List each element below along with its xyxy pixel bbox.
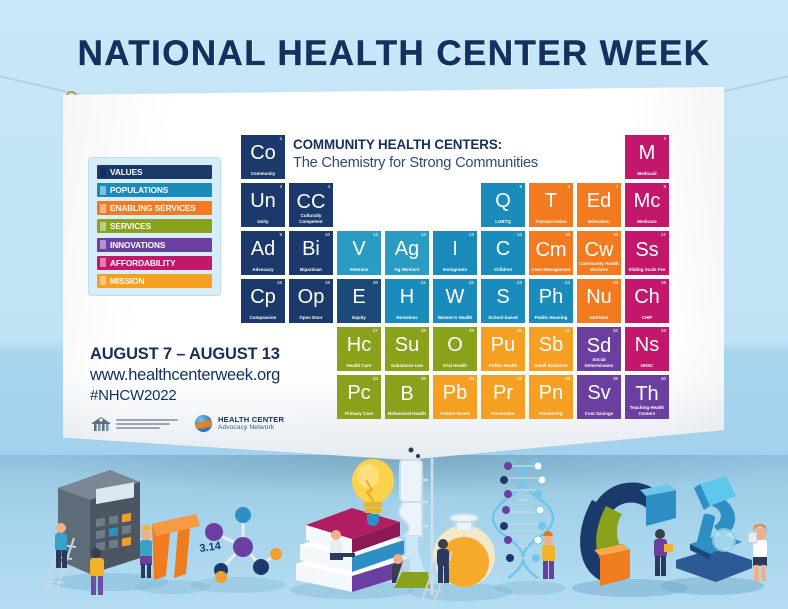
element-number: 21 bbox=[421, 280, 426, 285]
vinyl-banner: VALUESPOPULATIONSENABLING SERVICESSERVIC… bbox=[63, 87, 724, 460]
empty-cell bbox=[481, 135, 525, 179]
element-tile-w[interactable]: 22WWomen's Health bbox=[433, 279, 477, 323]
microscope-illustration bbox=[660, 476, 767, 595]
element-name: Bipartisan bbox=[291, 267, 331, 272]
element-symbol: Ss bbox=[625, 240, 669, 260]
legend-item-label: AFFORDABILITY bbox=[110, 258, 176, 268]
element-number: 15 bbox=[565, 232, 570, 237]
legend-item-populations: POPULATIONS bbox=[97, 183, 212, 197]
element-symbol: Ch bbox=[625, 287, 669, 307]
element-name: Immigrants bbox=[435, 267, 475, 272]
element-tile-hc[interactable]: 27HcHealth Care bbox=[337, 327, 381, 371]
element-symbol: E bbox=[337, 287, 381, 307]
element-tile-o[interactable]: 29OOral Health bbox=[433, 327, 477, 371]
element-name: Ag Workers bbox=[387, 267, 427, 272]
empty-cell bbox=[289, 135, 333, 179]
element-name: Medicare bbox=[627, 219, 667, 224]
element-tile-bi[interactable]: 10BiBipartisan bbox=[289, 231, 333, 275]
element-tile-t[interactable]: 6TTransportation bbox=[529, 183, 573, 227]
periodic-row: 3UnUnity4CCCulturally Competent5QLGBTQ6T… bbox=[241, 183, 696, 227]
element-tile-ph[interactable]: 24PhPublic Housing bbox=[529, 279, 573, 323]
element-symbol: M bbox=[625, 143, 669, 163]
element-number: 36 bbox=[469, 376, 474, 381]
element-tile-s[interactable]: 23SSchool-based bbox=[481, 279, 525, 323]
event-hashtag: #NHCW2022 bbox=[90, 387, 280, 404]
legend-color-chip bbox=[100, 240, 106, 249]
element-symbol: Su bbox=[385, 335, 429, 355]
element-number: 5 bbox=[519, 184, 522, 189]
legend-item-values: VALUES bbox=[97, 165, 212, 179]
element-symbol: Sb bbox=[529, 335, 573, 355]
element-number: 19 bbox=[325, 280, 330, 285]
legend-item-enabling-services: ENABLING SERVICES bbox=[97, 201, 212, 215]
element-number: 18 bbox=[277, 280, 282, 285]
element-number: 23 bbox=[517, 280, 522, 285]
empty-cell bbox=[289, 327, 333, 371]
element-name: Women's Health bbox=[435, 315, 475, 320]
category-legend: VALUESPOPULATIONSENABLING SERVICESSERVIC… bbox=[88, 157, 221, 296]
element-tile-sv[interactable]: 39SvCost Savings bbox=[577, 375, 621, 419]
logo-row: HEALTH CENTER Advocacy Network bbox=[90, 414, 284, 433]
element-tile-nu[interactable]: 25NuNutrition bbox=[577, 279, 621, 323]
person-calculator-a bbox=[55, 523, 67, 568]
element-symbol: Ad bbox=[241, 239, 285, 259]
empty-cell bbox=[337, 135, 381, 179]
element-tile-ag[interactable]: 12AgAg Workers bbox=[385, 231, 429, 275]
empty-cell bbox=[385, 183, 429, 227]
element-symbol: Sd bbox=[577, 336, 621, 356]
legend-color-chip bbox=[100, 204, 106, 213]
element-tile-pc[interactable]: 34PcPrimary Care bbox=[337, 375, 381, 419]
element-number: 39 bbox=[613, 376, 618, 381]
element-name: Compassion bbox=[243, 315, 283, 320]
element-number: 32 bbox=[613, 328, 618, 333]
element-name: Education bbox=[579, 219, 619, 224]
advocacy-logo-line1: HEALTH CENTER bbox=[218, 416, 284, 424]
empty-cell bbox=[337, 183, 381, 227]
element-name: Veterans bbox=[339, 267, 379, 272]
element-name: Equity bbox=[339, 315, 379, 320]
element-name: NHSC bbox=[627, 363, 667, 368]
element-tile-pr[interactable]: 37PrPrevention bbox=[481, 375, 525, 419]
element-name: Homeless bbox=[387, 315, 427, 320]
legend-item-label: VALUES bbox=[110, 167, 142, 177]
periodic-row: 27HcHealth Care28SuSubstance Use29OOral … bbox=[241, 327, 696, 371]
legend-color-chip bbox=[100, 186, 106, 195]
legend-color-chip bbox=[100, 276, 106, 285]
element-name: Case Management bbox=[531, 267, 571, 272]
element-number: 6 bbox=[567, 184, 570, 189]
element-symbol: S bbox=[481, 287, 525, 307]
element-name: Advocacy bbox=[243, 267, 283, 272]
element-symbol: Nu bbox=[577, 287, 621, 307]
svg-text:3.14: 3.14 bbox=[199, 540, 223, 555]
legend-item-label: POPULATIONS bbox=[110, 185, 168, 195]
element-number: 11 bbox=[373, 232, 378, 237]
element-symbol: W bbox=[433, 287, 477, 307]
element-tile-un[interactable]: 3UnUnity bbox=[241, 183, 285, 227]
nachc-wordmark bbox=[116, 419, 178, 429]
element-name: Transportation bbox=[531, 219, 571, 224]
element-number: 33 bbox=[661, 328, 666, 333]
periodic-row: 34PcPrimary Care35BBehavioral Health36Pb… bbox=[241, 375, 696, 419]
periodic-row: 18CpCompassion19OpOpen Door20EEquity21HH… bbox=[241, 279, 696, 323]
legend-item-label: SERVICES bbox=[110, 221, 151, 231]
element-number: 10 bbox=[325, 232, 330, 237]
element-number: 13 bbox=[469, 232, 474, 237]
element-name: Medicaid bbox=[627, 171, 667, 176]
element-tile-m[interactable]: 2MMedicaid bbox=[625, 135, 669, 179]
element-symbol: V bbox=[337, 239, 381, 259]
element-name: Public Housing bbox=[531, 315, 571, 320]
element-number: 24 bbox=[565, 280, 570, 285]
element-symbol: T bbox=[529, 191, 573, 211]
element-number: 1 bbox=[279, 136, 282, 141]
element-name: Small Business bbox=[531, 363, 571, 368]
nachc-logo bbox=[90, 415, 178, 433]
empty-cell bbox=[433, 183, 477, 227]
person-flask bbox=[437, 539, 449, 583]
legend-item-innovations: INNOVATIONS bbox=[97, 238, 212, 252]
empty-cell bbox=[529, 135, 573, 179]
legend-item-label: INNOVATIONS bbox=[110, 240, 165, 250]
legend-item-affordability: AFFORDABILITY bbox=[97, 256, 212, 270]
element-number: 9 bbox=[279, 232, 282, 237]
element-tile-mc[interactable]: 8McMedicare bbox=[625, 183, 669, 227]
element-tile-ch[interactable]: 26ChCHIP bbox=[625, 279, 669, 323]
element-name: Sliding Scale Fee bbox=[627, 267, 667, 272]
element-number: 31 bbox=[565, 328, 570, 333]
element-number: 3 bbox=[279, 184, 282, 189]
person-pi bbox=[140, 525, 152, 578]
element-symbol: Cp bbox=[241, 287, 285, 307]
legend-color-chip bbox=[100, 258, 106, 267]
element-symbol: Op bbox=[289, 287, 333, 307]
element-tile-ad[interactable]: 9AdAdvocacy bbox=[241, 231, 285, 275]
element-name: Nutrition bbox=[579, 315, 619, 320]
element-tile-cp[interactable]: 18CpCompassion bbox=[241, 279, 285, 323]
page-title: NATIONAL HEALTH CENTER WEEK bbox=[0, 34, 788, 74]
element-name: Community bbox=[243, 171, 283, 176]
element-name: Community Health Workers bbox=[579, 261, 619, 272]
person-magnet bbox=[654, 529, 673, 576]
element-symbol: Co bbox=[241, 143, 285, 163]
element-tile-ss[interactable]: 17SsSliding Scale Fee bbox=[625, 231, 669, 275]
element-number: 22 bbox=[469, 280, 474, 285]
element-symbol: I bbox=[433, 239, 477, 259]
element-symbol: O bbox=[433, 335, 477, 355]
legend-item-services: SERVICES bbox=[97, 219, 212, 233]
element-tile-op[interactable]: 19OpOpen Door bbox=[289, 279, 333, 323]
element-name: Open Door bbox=[291, 315, 331, 320]
element-symbol: B bbox=[385, 384, 429, 404]
element-number: 14 bbox=[517, 232, 522, 237]
empty-cell bbox=[577, 135, 621, 179]
legend-item-label: MISSION bbox=[110, 276, 144, 286]
element-symbol: Ns bbox=[625, 335, 669, 355]
element-number: 25 bbox=[613, 280, 618, 285]
nachc-house-icon bbox=[90, 415, 112, 433]
element-symbol: Bi bbox=[289, 239, 333, 259]
dna-helix-illustration bbox=[493, 458, 566, 595]
element-tile-pu[interactable]: 30PuPublic Health bbox=[481, 327, 525, 371]
element-tile-b[interactable]: 35BBehavioral Health bbox=[385, 375, 429, 419]
globe-icon bbox=[194, 414, 213, 433]
element-number: 7 bbox=[615, 184, 618, 189]
element-number: 38 bbox=[565, 376, 570, 381]
poster-canvas: NATIONAL HEALTH CENTER WEEK VALUESPOPULA… bbox=[0, 0, 788, 609]
element-symbol: Ag bbox=[385, 239, 429, 259]
periodic-table: 1CoCommunity2MMedicaid3UnUnity4CCCultura… bbox=[241, 135, 696, 423]
element-symbol: Cm bbox=[529, 240, 573, 260]
element-symbol: C bbox=[481, 239, 525, 259]
element-number: 29 bbox=[469, 328, 474, 333]
isometric-illustration-strip: 3.14 bbox=[0, 440, 788, 609]
element-name: School-based bbox=[483, 315, 523, 320]
advocacy-network-logo: HEALTH CENTER Advocacy Network bbox=[194, 414, 284, 433]
element-tile-v[interactable]: 11VVeterans bbox=[337, 231, 381, 275]
empty-cell bbox=[289, 375, 333, 419]
element-tile-su[interactable]: 28SuSubstance Use bbox=[385, 327, 429, 371]
element-name: Oral Health bbox=[435, 363, 475, 368]
person-dna bbox=[542, 531, 555, 579]
element-symbol: Cw bbox=[577, 240, 621, 260]
element-name: Public Health bbox=[483, 363, 523, 368]
empty-cell bbox=[433, 135, 477, 179]
element-number: 28 bbox=[421, 328, 426, 333]
element-tile-sb[interactable]: 31SbSmall Business bbox=[529, 327, 573, 371]
element-tile-pb[interactable]: 36PbPatient Board bbox=[433, 375, 477, 419]
element-symbol: Un bbox=[241, 191, 285, 211]
element-symbol: Mc bbox=[625, 191, 669, 211]
periodic-row: 9AdAdvocacy10BiBipartisan11VVeterans12Ag… bbox=[241, 231, 696, 275]
element-symbol: Pn bbox=[529, 383, 573, 403]
element-tile-ed[interactable]: 7EdEducation bbox=[577, 183, 621, 227]
element-name: Culturally Competent bbox=[291, 213, 331, 224]
element-tile-cw[interactable]: 16CwCommunity Health Workers bbox=[577, 231, 621, 275]
element-symbol: Ph bbox=[529, 287, 573, 307]
element-symbol: Pb bbox=[433, 383, 477, 403]
element-tile-sd[interactable]: 32SdSocial Determinants bbox=[577, 327, 621, 371]
element-name: Health Care bbox=[339, 363, 379, 368]
element-symbol: CC bbox=[289, 192, 333, 212]
element-name: Children bbox=[483, 267, 523, 272]
event-dates: AUGUST 7 – AUGUST 13 bbox=[90, 345, 280, 364]
element-tile-i[interactable]: 13IImmigrants bbox=[433, 231, 477, 275]
legend-color-chip bbox=[100, 168, 106, 177]
magnet-illustration bbox=[572, 482, 688, 597]
element-symbol: Pr bbox=[481, 383, 525, 403]
element-symbol: Q bbox=[481, 191, 525, 211]
element-number: 2 bbox=[663, 136, 666, 141]
element-number: 26 bbox=[661, 280, 666, 285]
element-name: Pioneering bbox=[531, 411, 571, 416]
element-name: Behavioral Health bbox=[387, 411, 427, 416]
empty-cell bbox=[385, 135, 429, 179]
element-name: LGBTQ bbox=[483, 219, 523, 224]
event-info: AUGUST 7 – AUGUST 13 www.healthcenterwee… bbox=[90, 345, 280, 404]
element-number: 17 bbox=[661, 232, 666, 237]
element-tile-cc[interactable]: 4CCCulturally Competent bbox=[289, 183, 333, 227]
element-number: 40 bbox=[661, 376, 666, 381]
event-url[interactable]: www.healthcenterweek.org bbox=[90, 366, 280, 385]
element-tile-co[interactable]: 1CoCommunity bbox=[241, 135, 285, 179]
element-name: Prevention bbox=[483, 411, 523, 416]
element-number: 30 bbox=[517, 328, 522, 333]
legend-color-chip bbox=[100, 222, 106, 231]
element-tile-e[interactable]: 20EEquity bbox=[337, 279, 381, 323]
element-tile-pn[interactable]: 38PnPioneering bbox=[529, 375, 573, 419]
element-name: Social Determinants bbox=[579, 357, 619, 368]
element-name: Teaching Health Centers bbox=[627, 405, 667, 416]
element-symbol: Th bbox=[625, 384, 669, 404]
element-number: 8 bbox=[663, 184, 666, 189]
element-name: Cost Savings bbox=[579, 411, 619, 416]
element-number: 20 bbox=[373, 280, 378, 285]
element-tile-c[interactable]: 14CChildren bbox=[481, 231, 525, 275]
element-name: Unity bbox=[243, 219, 283, 224]
element-name: CHIP bbox=[627, 315, 667, 320]
legend-item-label: ENABLING SERVICES bbox=[110, 203, 196, 213]
element-tile-cm[interactable]: 15CmCase Management bbox=[529, 231, 573, 275]
person-microscope bbox=[748, 524, 767, 581]
element-number: 4 bbox=[327, 184, 330, 189]
element-symbol: Ed bbox=[577, 191, 621, 211]
element-tile-th[interactable]: 40ThTeaching Health Centers bbox=[625, 375, 669, 419]
element-number: 35 bbox=[421, 376, 426, 381]
books-lightbulb-illustration bbox=[290, 459, 414, 599]
element-name: Primary Care bbox=[339, 411, 379, 416]
element-name: Substance Use bbox=[387, 363, 427, 368]
element-number: 16 bbox=[613, 232, 618, 237]
element-tile-h[interactable]: 21HHomeless bbox=[385, 279, 429, 323]
element-symbol: Pu bbox=[481, 335, 525, 355]
advocacy-logo-line2: Advocacy Network bbox=[218, 424, 284, 431]
element-number: 12 bbox=[421, 232, 426, 237]
element-number: 27 bbox=[373, 328, 378, 333]
element-tile-ns[interactable]: 33NsNHSC bbox=[625, 327, 669, 371]
legend-item-mission: MISSION bbox=[97, 274, 212, 288]
element-tile-q[interactable]: 5QLGBTQ bbox=[481, 183, 525, 227]
element-name: Patient Board bbox=[435, 411, 475, 416]
element-symbol: Hc bbox=[337, 335, 381, 355]
element-symbol: Sv bbox=[577, 383, 621, 403]
element-number: 37 bbox=[517, 376, 522, 381]
periodic-row: 1CoCommunity2MMedicaid bbox=[241, 135, 696, 179]
element-symbol: Pc bbox=[337, 383, 381, 403]
element-number: 34 bbox=[373, 376, 378, 381]
element-symbol: H bbox=[385, 287, 429, 307]
